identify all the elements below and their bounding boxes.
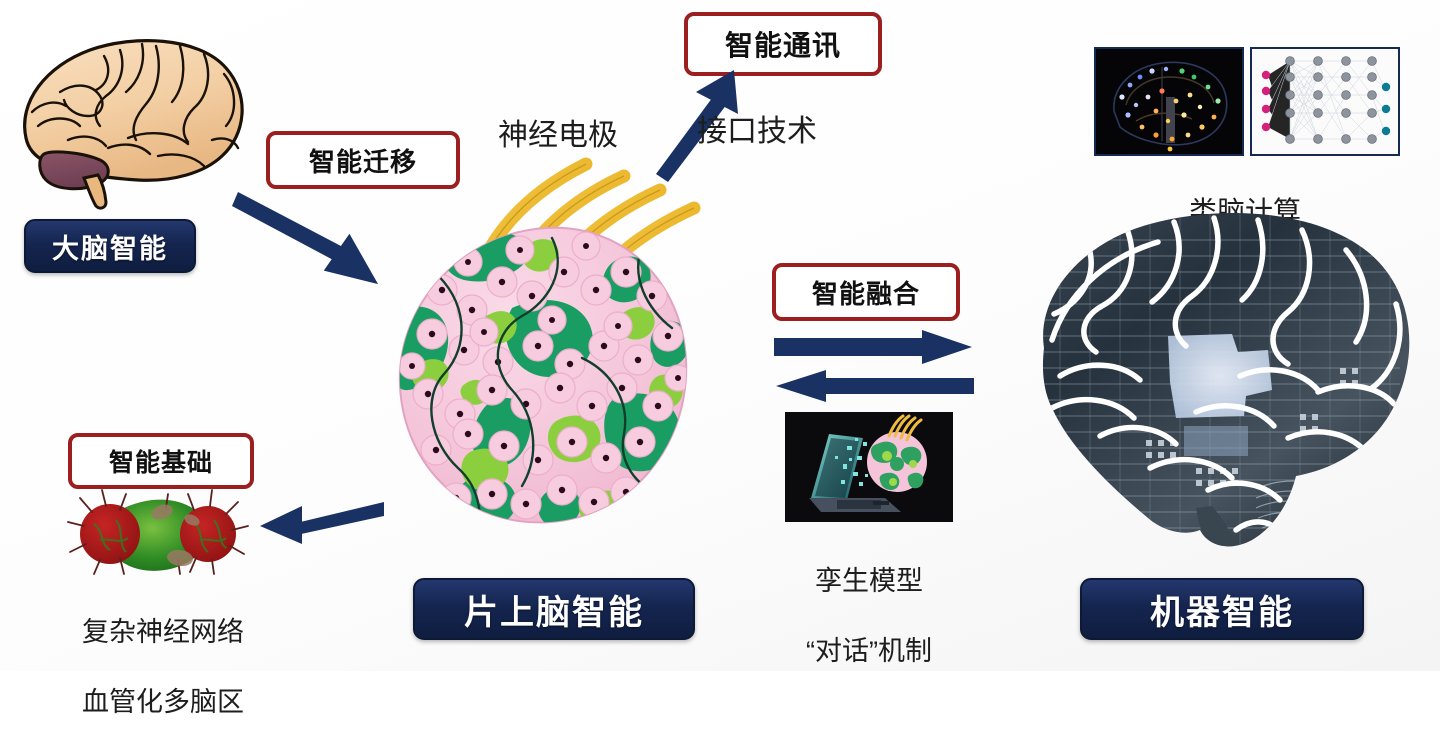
brain-organoid-on-chip bbox=[372, 150, 722, 560]
annotation-interface-tech: 接口技术 bbox=[697, 113, 817, 151]
arrow-foundation bbox=[248, 490, 384, 550]
vascularized-organoid-illustration bbox=[62, 486, 258, 578]
caption-dialogue-mechanism: “对话”机制 bbox=[760, 634, 978, 669]
neural-network-diagram bbox=[1250, 47, 1400, 156]
circuit-board-brain bbox=[1000, 200, 1440, 590]
caption-vascularized-multiregion: 血管化多脑区 bbox=[50, 685, 276, 720]
human-brain-illustration bbox=[8, 30, 258, 215]
caption-foundation: 复杂神经网络 血管化多脑区 bbox=[50, 580, 276, 755]
interface-tech-text: 接口技术 bbox=[697, 115, 817, 148]
figure-canvas: 大脑智能 智能迁移 智能通讯 神经电极 接口技术 bbox=[0, 0, 1440, 671]
neuromorphic-brain-photo bbox=[1094, 47, 1244, 156]
label-foundation[interactable]: 智能基础 bbox=[68, 433, 254, 489]
caption-digital-twin: 孪生模型 “对话”机制 bbox=[760, 529, 978, 704]
node-machine-intelligence-label: 机器智能 bbox=[1150, 585, 1294, 634]
caption-complex-neural-network: 复杂神经网络 bbox=[50, 615, 276, 650]
digital-twin-laptop bbox=[785, 412, 953, 522]
label-foundation-text: 智能基础 bbox=[109, 443, 213, 479]
node-brain-intelligence-label: 大脑智能 bbox=[52, 227, 168, 266]
annotation-neural-electrode: 神经电极 bbox=[498, 117, 618, 155]
label-communication-text: 智能通讯 bbox=[725, 24, 841, 64]
label-communication[interactable]: 智能通讯 bbox=[684, 12, 882, 76]
node-brain-intelligence[interactable]: 大脑智能 bbox=[24, 219, 196, 273]
node-chip-brain-intelligence-label: 片上脑智能 bbox=[464, 585, 644, 634]
label-fusion-text: 智能融合 bbox=[812, 274, 920, 311]
neural-electrode-text: 神经电极 bbox=[498, 119, 618, 152]
caption-twin-model: 孪生模型 bbox=[760, 564, 978, 599]
node-chip-brain-intelligence[interactable]: 片上脑智能 bbox=[413, 578, 695, 640]
arrow-fusion-left bbox=[774, 368, 974, 404]
node-machine-intelligence[interactable]: 机器智能 bbox=[1080, 578, 1364, 640]
arrow-fusion-right bbox=[774, 330, 974, 366]
label-fusion[interactable]: 智能融合 bbox=[772, 263, 960, 321]
